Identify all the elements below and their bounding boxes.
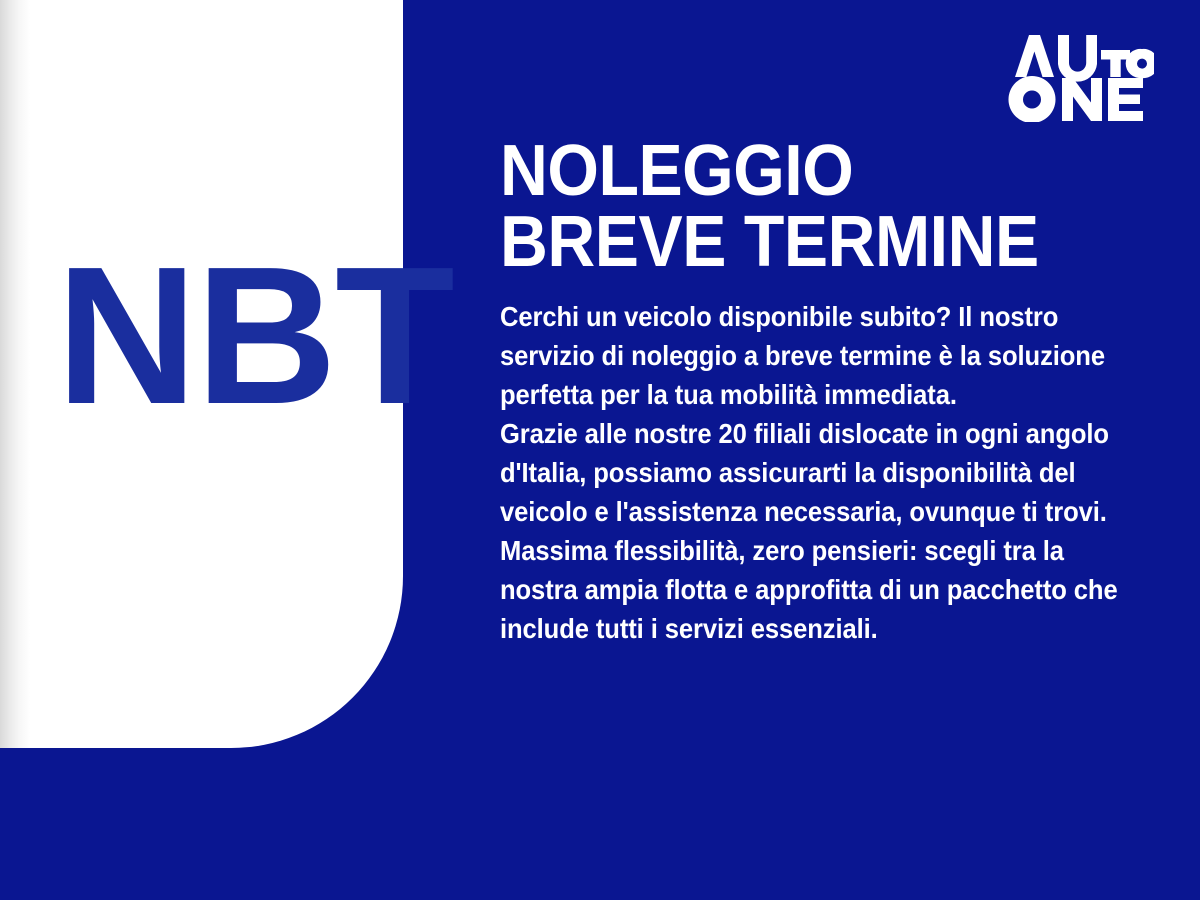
body-paragraph-1: Cerchi un veicolo disponibile subito? Il… xyxy=(500,297,1142,414)
content-column: NOLEGGIO BREVE TERMINE Cerchi un veicolo… xyxy=(500,136,1160,648)
nbt-abbreviation: NBT xyxy=(56,238,453,434)
autoone-logo-icon xyxy=(1002,30,1154,122)
promotional-poster: NBT NOLEGGIO BR xyxy=(0,0,1200,900)
headline: NOLEGGIO BREVE TERMINE xyxy=(500,136,1107,277)
body-paragraph-2: Grazie alle nostre 20 filiali dislocate … xyxy=(500,414,1142,531)
autoone-logo xyxy=(1002,30,1154,122)
headline-line-2: BREVE TERMINE xyxy=(500,207,1107,278)
body-paragraph-3: Massima flessibilità, zero pensieri: sce… xyxy=(500,531,1142,648)
headline-line-1: NOLEGGIO xyxy=(500,136,1107,207)
body-copy: Cerchi un veicolo disponibile subito? Il… xyxy=(500,297,1142,648)
